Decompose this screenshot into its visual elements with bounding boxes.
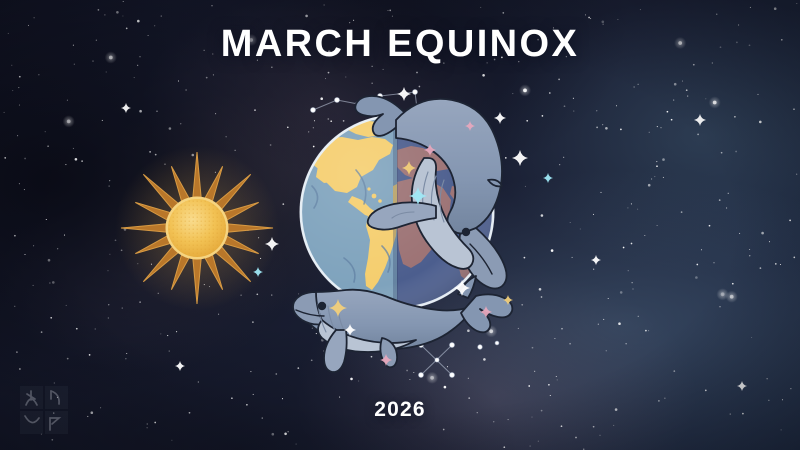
year-label: 2026 bbox=[0, 398, 800, 422]
sparkles-layer bbox=[0, 0, 800, 450]
brand-logo[interactable] bbox=[20, 386, 68, 434]
poster-canvas: MARCH EQUINOX 2026 bbox=[0, 0, 800, 450]
page-title: MARCH EQUINOX bbox=[0, 22, 800, 66]
